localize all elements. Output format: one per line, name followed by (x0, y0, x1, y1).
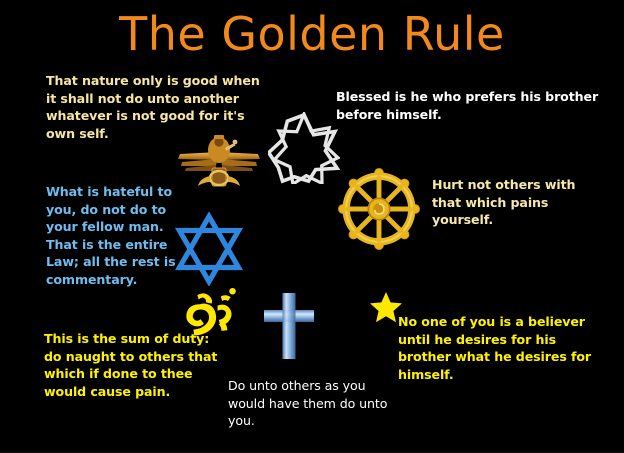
quote-bahai: Blessed is he who prefers his brother be… (336, 88, 614, 123)
faravahar-icon (176, 126, 262, 192)
quote-christianity: Do unto others as you would have them do… (228, 377, 388, 430)
star-of-david-icon (172, 212, 246, 286)
dharma-wheel-icon (338, 168, 420, 250)
quote-buddhism: Hurt not others with that which pains yo… (432, 176, 607, 229)
golden-rule-poster: The Golden Rule That nature only is good… (0, 0, 624, 453)
nine-pointed-star-icon (268, 112, 340, 184)
quote-islam: No one of you is a believer until he des… (398, 313, 608, 383)
crescent-star-icon (332, 276, 408, 344)
om-icon (180, 286, 246, 342)
christian-cross-icon (258, 290, 320, 362)
page-title: The Golden Rule (0, 6, 624, 62)
